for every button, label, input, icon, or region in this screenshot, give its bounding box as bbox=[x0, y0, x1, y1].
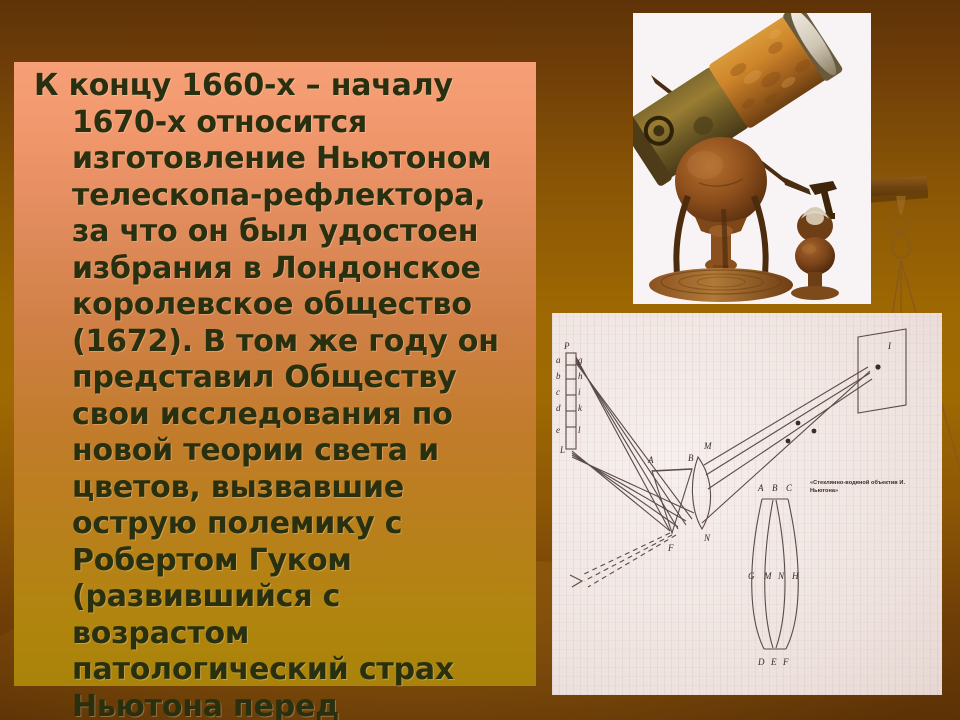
diagram-caption: «Стеклянно-водяной объектив И. Ньютона» bbox=[810, 480, 928, 495]
svg-text:P: P bbox=[563, 341, 570, 351]
svg-text:M: M bbox=[763, 571, 772, 581]
body-paragraph: К концу 1660-х – началу 1670-х относится… bbox=[24, 68, 526, 720]
svg-text:B: B bbox=[772, 483, 778, 493]
svg-text:d: d bbox=[556, 403, 561, 413]
svg-text:N: N bbox=[703, 533, 711, 543]
svg-text:b: b bbox=[556, 371, 561, 381]
svg-text:B: B bbox=[688, 453, 694, 463]
svg-text:G: G bbox=[748, 571, 755, 581]
svg-text:F: F bbox=[782, 657, 789, 667]
svg-text:L: L bbox=[559, 445, 565, 455]
svg-text:H: H bbox=[791, 571, 799, 581]
svg-text:A: A bbox=[647, 455, 654, 465]
svg-text:A: A bbox=[757, 483, 764, 493]
svg-text:g: g bbox=[578, 355, 583, 365]
svg-text:D: D bbox=[757, 657, 765, 667]
newton-telescope-photo bbox=[633, 13, 871, 304]
svg-text:k: k bbox=[578, 403, 583, 413]
svg-text:F: F bbox=[667, 543, 674, 553]
svg-text:h: h bbox=[578, 371, 583, 381]
content-text-panel: К концу 1660-х – началу 1670-х относится… bbox=[14, 62, 536, 686]
svg-text:l: l bbox=[578, 425, 581, 435]
svg-text:i: i bbox=[578, 387, 581, 397]
svg-text:N: N bbox=[777, 571, 785, 581]
newton-optics-diagram: P ag bh ci dk el L A B F M N I A B C G M… bbox=[552, 313, 942, 695]
svg-text:C: C bbox=[786, 483, 793, 493]
slide-canvas: К концу 1660-х – началу 1670-х относится… bbox=[0, 0, 960, 720]
svg-text:M: M bbox=[703, 441, 712, 451]
svg-text:E: E bbox=[770, 657, 777, 667]
svg-text:c: c bbox=[556, 387, 560, 397]
svg-text:I: I bbox=[887, 341, 892, 351]
svg-text:e: e bbox=[556, 425, 560, 435]
svg-text:a: a bbox=[556, 355, 561, 365]
